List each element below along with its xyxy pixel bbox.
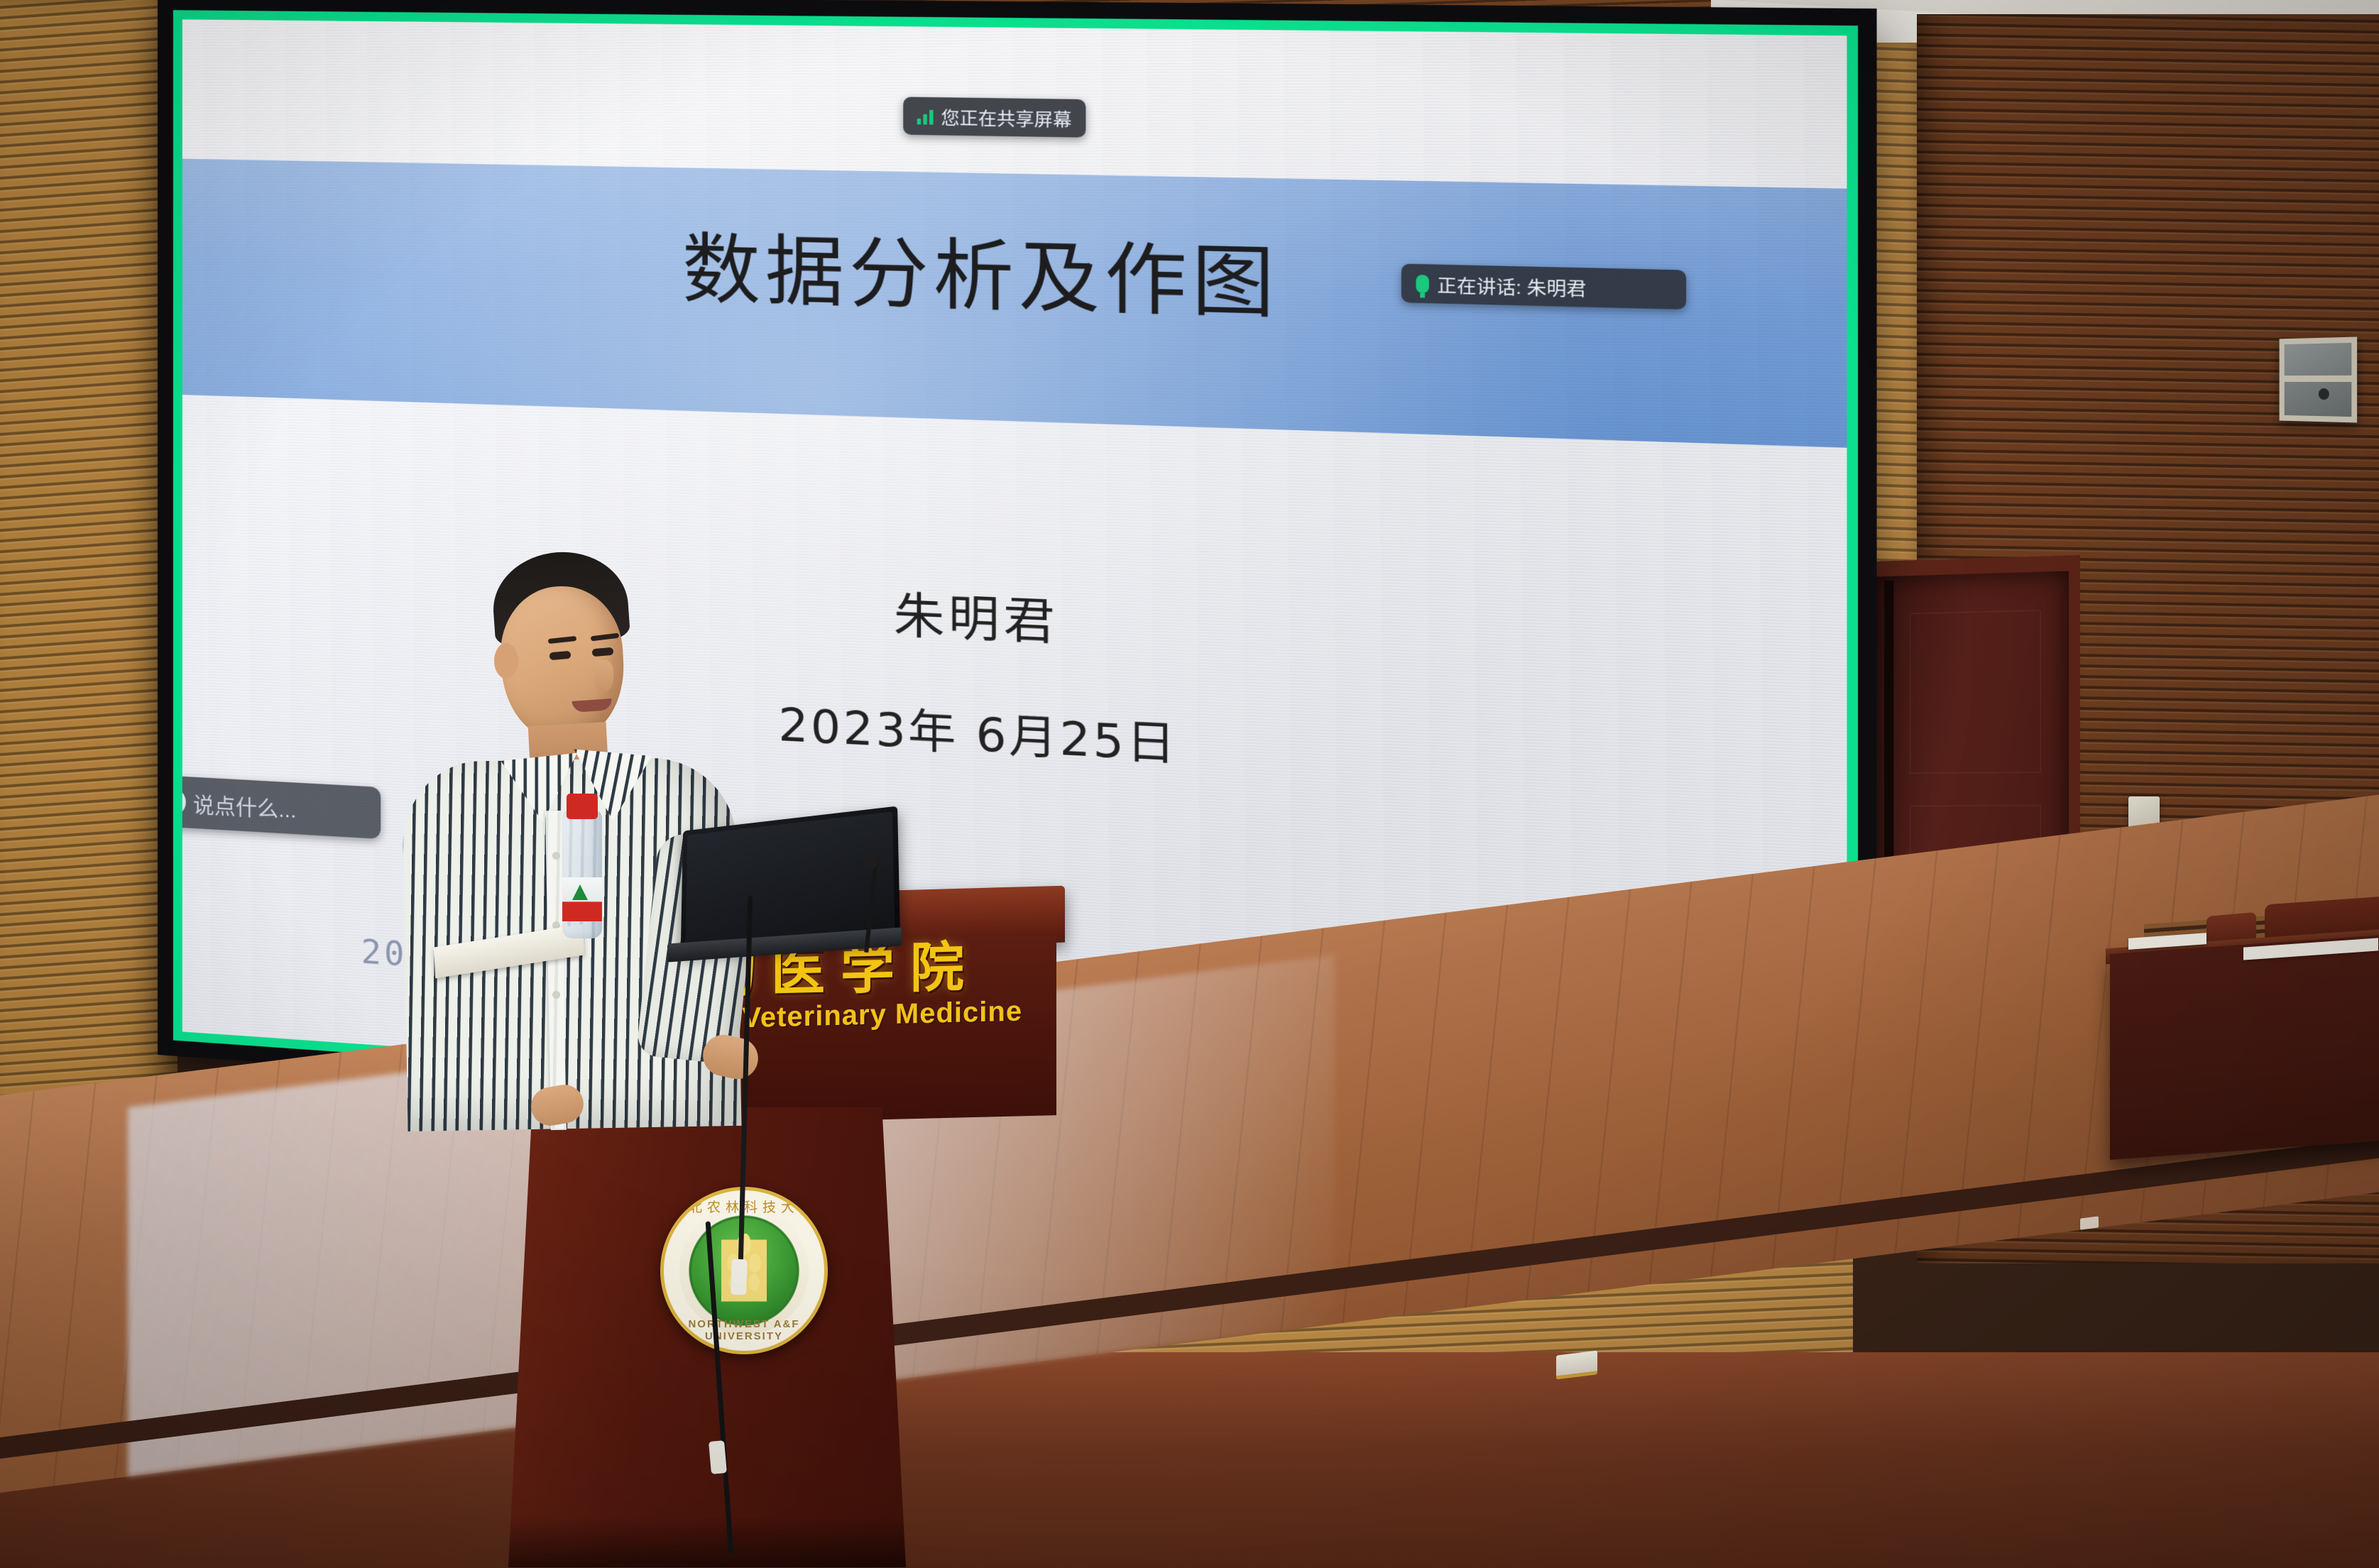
presenter-nose bbox=[595, 660, 613, 691]
active-speaker-indicator[interactable]: 正在讲话: 朱明君 bbox=[1401, 263, 1687, 309]
presenter-ear bbox=[494, 643, 518, 679]
lecture-hall-photo: 数据分析及作图 朱明君 2023年 6月25日 1 2023-6-2 您正在共享… bbox=[0, 0, 2379, 1568]
door-panel bbox=[1910, 610, 2040, 773]
leaf-logo-icon bbox=[572, 884, 588, 900]
floor-debris bbox=[2080, 1216, 2099, 1229]
shirt-button bbox=[552, 852, 560, 860]
laptop-screen bbox=[685, 811, 895, 947]
microphone-capsule-icon bbox=[865, 849, 877, 869]
screen-sharing-label: 您正在共享屏幕 bbox=[941, 104, 1071, 131]
signal-bars-icon bbox=[917, 108, 934, 124]
active-speaker-label: 正在讲话: 朱明君 bbox=[1437, 270, 1586, 301]
university-emblem-name-en: NORTHWEST A&F UNIVERSITY bbox=[664, 1318, 824, 1342]
emoji-icon[interactable]: ☺ bbox=[173, 786, 186, 816]
cable-clip bbox=[731, 1259, 748, 1295]
wall-vent-icon bbox=[2280, 337, 2357, 423]
floor-outlet-box[interactable] bbox=[1556, 1350, 1597, 1379]
microphone-icon bbox=[1416, 274, 1429, 292]
screen-sharing-indicator[interactable]: 您正在共享屏幕 bbox=[903, 97, 1085, 137]
side-table bbox=[2110, 934, 2379, 1160]
water-bottle-cap bbox=[567, 794, 598, 819]
shirt-button bbox=[552, 991, 560, 999]
chat-input-placeholder[interactable]: 说点什么... bbox=[193, 787, 297, 824]
cable-clip bbox=[709, 1440, 727, 1474]
